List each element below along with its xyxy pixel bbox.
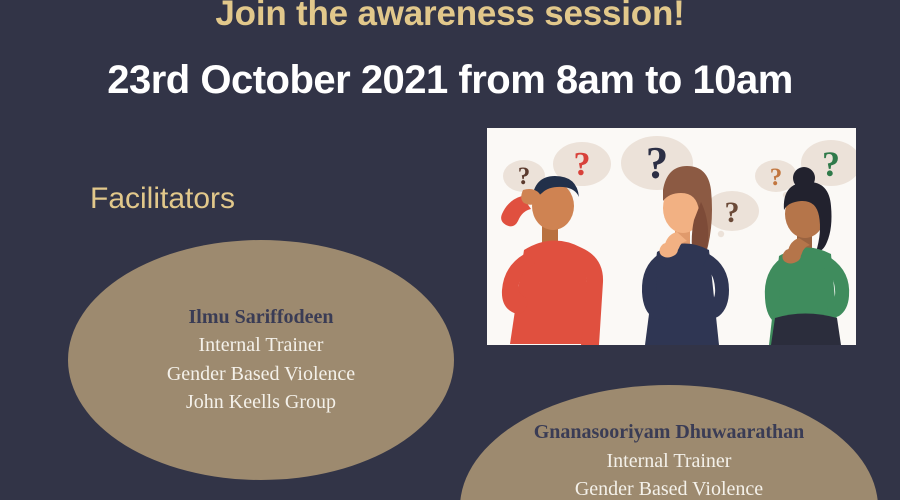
facilitator-card-2: Gnanasooriyam Dhuwaarathan Internal Trai… [460,385,878,500]
event-date-time: 23rd October 2021 from 8am to 10am [0,58,900,103]
facilitator-topic: Gender Based Violence [167,360,355,388]
svg-text:?: ? [770,164,783,191]
facilitator-organisation: John Keells Group [186,388,336,416]
facilitator-card-1: Ilmu Sariffodeen Internal Trainer Gender… [68,240,454,480]
svg-text:?: ? [822,144,840,184]
svg-text:?: ? [518,163,531,190]
svg-text:?: ? [574,146,591,183]
facilitator-name: Ilmu Sariffodeen [189,304,334,332]
headline: Join the awareness session! [0,0,900,34]
svg-text:?: ? [725,196,740,229]
facilitator-role: Internal Trainer [607,447,732,475]
svg-text:?: ? [646,138,669,188]
poster-canvas: Join the awareness session! 23rd October… [0,0,900,500]
facilitator-role: Internal Trainer [199,331,324,359]
three-people-thinking-illustration: ? ? ? ? ? ? [487,128,856,345]
facilitator-topic: Gender Based Violence [575,475,763,500]
facilitators-section-title: Facilitators [90,182,235,216]
facilitator-name: Gnanasooriyam Dhuwaarathan [534,419,805,447]
